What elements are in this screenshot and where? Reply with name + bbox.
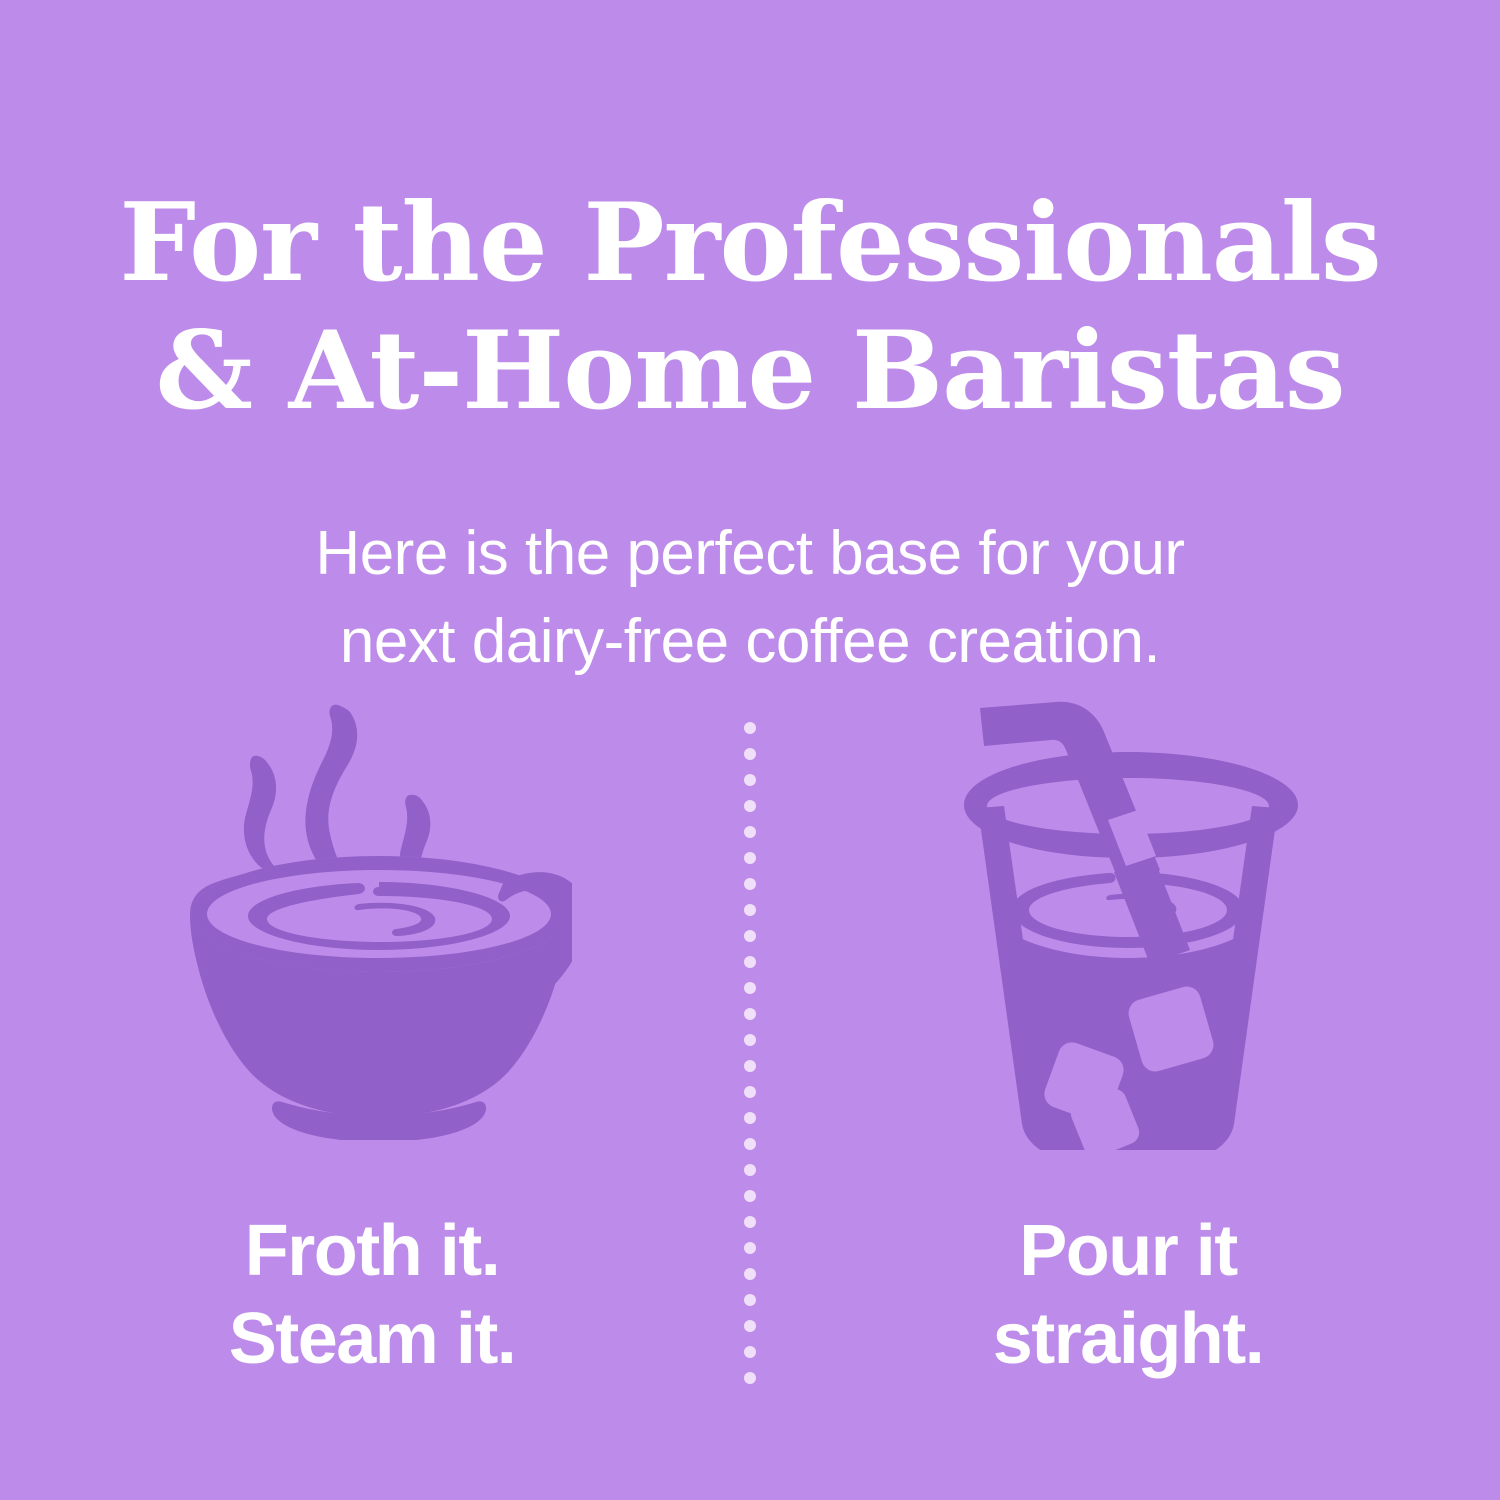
divider-dot — [744, 982, 756, 994]
divider-dot — [744, 1346, 756, 1358]
divider-dot — [744, 930, 756, 942]
iced-drink-icon-container — [756, 700, 1500, 1170]
panel-hot-coffee: Froth it. Steam it. — [0, 700, 744, 1420]
divider-dot — [744, 800, 756, 812]
divider-dot — [744, 1164, 756, 1176]
divider-dot — [744, 1190, 756, 1202]
divider-dot — [744, 1008, 756, 1020]
divider-dot — [744, 1320, 756, 1332]
divider-dot — [744, 826, 756, 838]
divider-dot — [744, 1294, 756, 1306]
divider-dot — [744, 722, 756, 734]
divider-dot — [744, 1372, 756, 1384]
panel-iced-drink: Pour it straight. — [756, 700, 1500, 1420]
divider-dot — [744, 1112, 756, 1124]
divider-dot — [744, 1242, 756, 1254]
divider-dot — [744, 748, 756, 760]
divider-dot — [744, 1034, 756, 1046]
divider-dot — [744, 774, 756, 786]
panel-iced-drink-caption: Pour it straight. — [756, 1208, 1500, 1384]
page-title: For the Professionals & At-Home Baristas — [0, 180, 1500, 435]
subheading-text: Here is the perfect base for your next d… — [0, 510, 1500, 686]
divider-dot — [744, 1216, 756, 1228]
panel-hot-coffee-caption: Froth it. Steam it. — [0, 1208, 744, 1384]
promo-poster: For the Professionals & At-Home Baristas… — [0, 0, 1500, 1500]
divider-dot — [744, 956, 756, 968]
divider-dot — [744, 1086, 756, 1098]
divider-dot — [744, 904, 756, 916]
divider-dot — [744, 1268, 756, 1280]
divider-dot — [744, 1138, 756, 1150]
divider-dot — [744, 878, 756, 890]
steaming-coffee-cup-icon — [172, 700, 572, 1140]
divider-dot — [744, 852, 756, 864]
iced-drink-glass-with-straw-icon — [958, 700, 1298, 1150]
divider-dot — [744, 1060, 756, 1072]
coffee-cup-icon-container — [0, 700, 744, 1170]
